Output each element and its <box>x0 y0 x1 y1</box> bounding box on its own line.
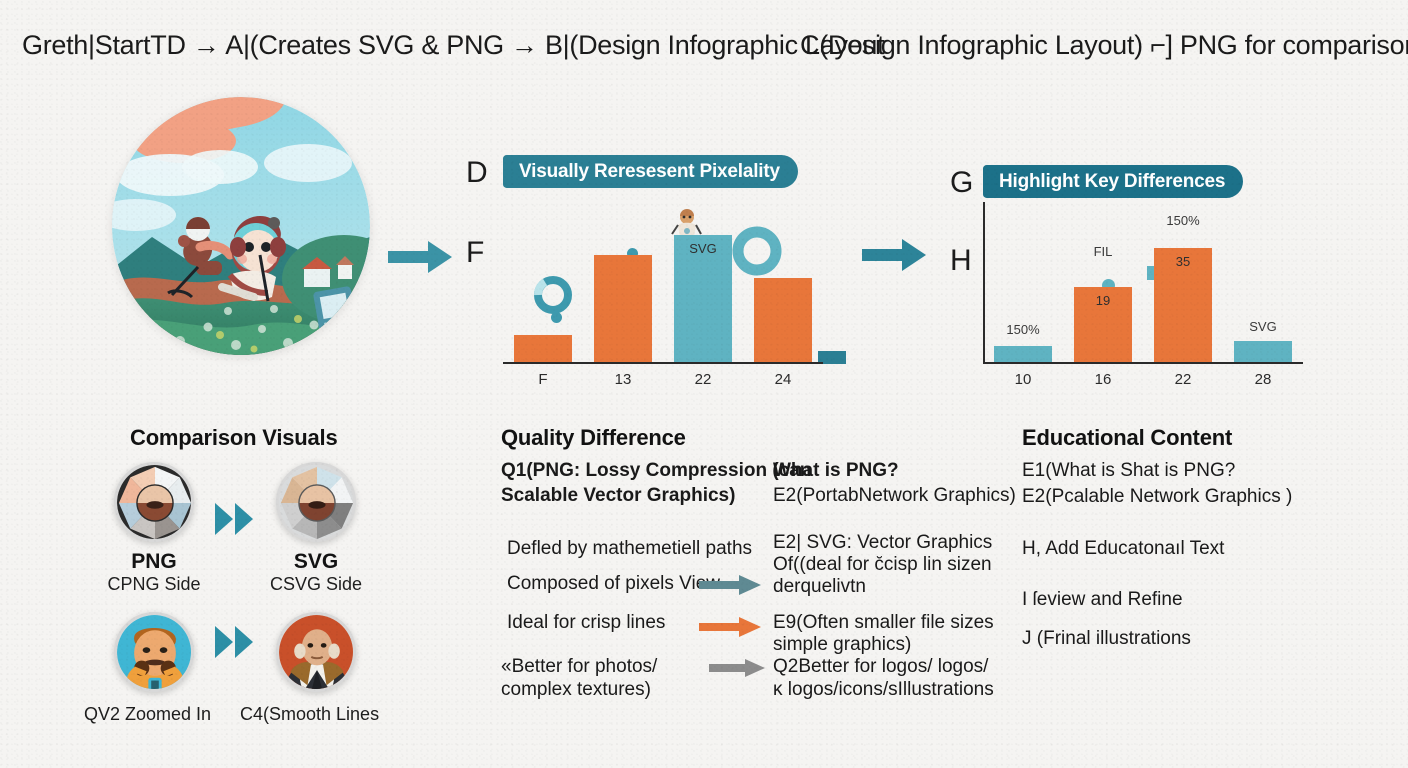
chevron-double-right-icon-2 <box>202 622 268 662</box>
quality-right-line-2: E2(PortabNetwork Graphics) <box>773 483 1016 508</box>
node-marker-g: G <box>950 166 973 200</box>
bar-slot: 150% <box>983 202 1063 362</box>
bar-top-label: FIL <box>1063 244 1143 259</box>
quality-left-line-6: «Better for photos/ <box>501 654 657 679</box>
bar-slot <box>583 214 663 362</box>
quality-right-line-1: What is PNG? <box>773 458 899 483</box>
chart-title-center: Visually Reresesent Pixelality <box>503 155 798 188</box>
bar-slot <box>743 214 823 362</box>
bar-top-label: 150% <box>983 322 1063 337</box>
connector-arrow-orange <box>699 616 763 643</box>
heading-quality-difference: Quality Difference <box>501 425 686 451</box>
x-tick: 22 <box>663 371 743 388</box>
bar <box>994 346 1052 362</box>
bar <box>594 255 652 362</box>
node-marker-d: D <box>466 156 488 190</box>
bar <box>514 335 572 362</box>
x-axis-ticks-right: 10 16 22 28 <box>983 371 1303 388</box>
caption-smooth-lines: C4(Smooth Lines <box>240 704 379 725</box>
education-line-3: H, Add Educatonaıl Text <box>1022 536 1224 562</box>
sublabel-png-side: CPNG Side <box>107 574 200 595</box>
quality-left-line-2: Scalable Vector Graphics) <box>501 483 735 508</box>
bar <box>1234 341 1292 362</box>
quality-left-line-7: complex textures) <box>501 677 651 702</box>
comparison-item-smooth <box>268 612 364 692</box>
chart-visually-represent-pixelality: Visually Reresesent Pixelality <box>503 155 823 390</box>
hero-illustration-art <box>112 97 370 355</box>
quality-right-line-5: derquelivtn <box>773 574 866 599</box>
bar-slot <box>503 214 583 362</box>
bar-label: 35 <box>1154 254 1212 269</box>
x-tick: 22 <box>1143 371 1223 388</box>
bar-label: 19 <box>1074 293 1132 308</box>
svg-pie-thumbnail <box>276 462 356 542</box>
x-axis-line <box>983 362 1303 364</box>
chevron-double-right-icon-1 <box>202 499 268 539</box>
node-marker-h: H <box>950 244 972 278</box>
quality-left-line-5: Ideal for crisp lines <box>507 610 665 635</box>
heading-educational-content: Educational Content <box>1022 425 1232 451</box>
quality-left-line-4: Composed of pixels View <box>507 571 720 596</box>
bar-slot: 150% 35 <box>1143 202 1223 362</box>
flow-arrow-hero-to-center <box>388 240 454 279</box>
bar: 35 <box>1154 248 1212 362</box>
bar-group-right: 150% FIL 19 150% 35 SVG <box>983 202 1303 362</box>
x-tick: 13 <box>583 371 663 388</box>
x-tick: 16 <box>1063 371 1143 388</box>
label-svg: SVG <box>294 550 338 574</box>
hero-illustration <box>112 97 370 355</box>
sublabel-svg-side: CSVG Side <box>270 574 362 595</box>
quality-left-line-1: Q1(PNG: Lossy Compression (can <box>501 458 811 483</box>
comparison-item-svg: SVG CSVG Side <box>268 462 364 595</box>
chart-plot-area-right: 150% FIL 19 150% 35 SVG <box>983 202 1303 364</box>
quality-right-line-9: ᴋ logos/icons/sIllustrations <box>773 677 994 702</box>
bar-group-center: SVG <box>503 214 823 362</box>
bar-slot: FIL 19 <box>1063 202 1143 362</box>
heading-comparison-visuals: Comparison Visuals <box>130 425 338 451</box>
education-line-1: E1(What is Shat is PNG? <box>1022 458 1235 484</box>
education-line-5: J (Frinal illustrations <box>1022 626 1191 652</box>
bar-label: SVG <box>674 241 732 256</box>
quality-left-line-3: Defled by mathemetiell paths <box>507 536 752 561</box>
chart-title-right: Highlight Key Differences <box>983 165 1243 198</box>
chart-plot-area-center: SVG <box>503 214 823 364</box>
label-png: PNG <box>131 550 177 574</box>
comparison-item-png: PNG CPNG Side <box>106 462 202 595</box>
comparison-row-png-svg: PNG CPNG Side <box>106 462 364 595</box>
node-marker-f: F <box>466 236 484 270</box>
x-tick: 10 <box>983 371 1063 388</box>
x-tick: 28 <box>1223 371 1303 388</box>
comparison-row-zoom-smooth <box>106 612 364 692</box>
flow-header: Greth|StartTD → A|(Creates SVG & PNG → B… <box>0 24 1408 76</box>
bar-top-label: SVG <box>1223 319 1303 334</box>
x-tick: F <box>503 371 583 388</box>
caption-zoomed-in: QV2 Zoomed In <box>84 704 211 725</box>
bar-slot: SVG <box>663 214 743 362</box>
x-axis-line <box>503 362 823 364</box>
education-line-4: I ſeview and Refine <box>1022 587 1183 613</box>
infographic-canvas: Greth|StartTD → A|(Creates SVG & PNG → B… <box>0 0 1408 768</box>
bar-top-label: 150% <box>1143 213 1223 228</box>
flow-text-right: C(Design Infographic Layout) ⌐] PNG for … <box>800 30 1408 61</box>
connector-arrow-gray <box>709 658 767 683</box>
chart-highlight-key-differences: Highlight Key Differences 150% FIL 19 15 <box>983 165 1303 390</box>
smooth-face-thumbnail <box>276 612 356 692</box>
bar-slot: SVG <box>1223 202 1303 362</box>
bar: SVG <box>674 235 732 362</box>
quality-right-line-8: Q2Better for logos/ logos/ <box>773 654 988 679</box>
png-pie-thumbnail <box>114 462 194 542</box>
education-line-2: E2(Pcalable Network Graphics ) <box>1022 484 1292 510</box>
bar <box>754 278 812 362</box>
comparison-item-zoomed <box>106 612 202 692</box>
flow-text-left: Greth|StartTD → A|(Creates SVG & PNG → B… <box>22 30 884 61</box>
zoomed-face-thumbnail <box>114 612 194 692</box>
x-tick: 24 <box>743 371 823 388</box>
connector-arrow-slate <box>699 574 763 601</box>
bar: 19 <box>1074 287 1132 362</box>
x-axis-ticks-center: F 13 22 24 <box>503 371 823 388</box>
flow-arrow-center-to-right <box>862 238 928 277</box>
